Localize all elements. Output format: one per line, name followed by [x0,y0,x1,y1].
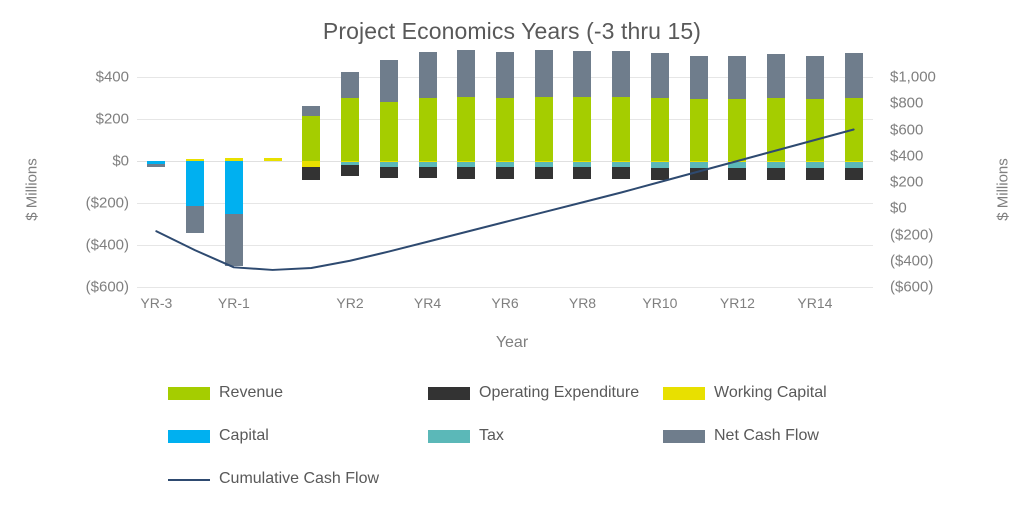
y-tick-label-left: ($200) [86,196,129,211]
y-tick-label-right: ($400) [890,253,933,268]
legend-line-icon [168,479,210,481]
legend-label: Operating Expenditure [479,385,639,401]
y-tick-label-left: ($400) [86,238,129,253]
legend-item[interactable]: Tax [428,428,504,444]
legend-item[interactable]: Operating Expenditure [428,385,639,401]
x-tick-label: YR4 [414,296,441,310]
cumulative-cash-flow-line [137,77,873,287]
y-tick-label-left: $0 [112,154,129,169]
legend-label: Cumulative Cash Flow [219,471,379,487]
legend-item[interactable]: Net Cash Flow [663,428,819,444]
y-tick-label-right: $0 [890,201,907,216]
y-tick-label-right: $800 [890,96,923,111]
legend-swatch-icon [428,430,470,443]
y-tick-label-right: $200 [890,175,923,190]
x-tick-label: YR12 [720,296,755,310]
legend-item[interactable]: Revenue [168,385,283,401]
x-tick-label: YR10 [642,296,677,310]
x-tick-label: YR-1 [218,296,250,310]
legend-label: Working Capital [714,385,827,401]
x-tick-label: YR6 [491,296,518,310]
y-tick-label-right: ($600) [890,280,933,295]
y-axis-left-ticks: $400$200$0($200)($400)($600) [47,77,129,287]
chart-container: Project Economics Years (-3 thru 15) $ M… [0,0,1024,507]
legend-swatch-icon [168,387,210,400]
y-tick-label-left: $400 [96,70,129,85]
plot-area [137,77,873,287]
y-axis-right-ticks: $1,000$800$600$400$200$0($200)($400)($60… [890,77,982,287]
legend-swatch-icon [428,387,470,400]
x-axis-ticks: YR-3YR-1YR2YR4YR6YR8YR10YR12YR14 [137,296,873,326]
y-axis-title-left: $ Millions [25,140,40,240]
y-tick-label-right: $400 [890,148,923,163]
legend-label: Net Cash Flow [714,428,819,444]
x-tick-label: YR2 [336,296,363,310]
y-tick-label-left: $200 [96,112,129,127]
legend-swatch-icon [663,387,705,400]
chart-title: Project Economics Years (-3 thru 15) [0,18,1024,45]
chart-legend: RevenueOperating ExpenditureWorking Capi… [0,385,1024,500]
y-tick-label-right: ($200) [890,227,933,242]
x-tick-label: YR14 [797,296,832,310]
legend-swatch-icon [168,430,210,443]
y-tick-label-right: $600 [890,122,923,137]
legend-swatch-icon [663,430,705,443]
x-axis-title: Year [0,335,1024,351]
legend-item[interactable]: Capital [168,428,269,444]
cumulative-cash-flow-polyline [156,130,853,270]
legend-item[interactable]: Working Capital [663,385,827,401]
gridline [137,287,873,288]
legend-label: Revenue [219,385,283,401]
y-tick-label-right: $1,000 [890,70,936,85]
y-axis-title-right: $ Millions [996,140,1011,240]
x-tick-label: YR-3 [140,296,172,310]
legend-label: Capital [219,428,269,444]
x-tick-label: YR8 [569,296,596,310]
legend-label: Tax [479,428,504,444]
legend-item[interactable]: Cumulative Cash Flow [168,471,379,487]
y-tick-label-left: ($600) [86,280,129,295]
